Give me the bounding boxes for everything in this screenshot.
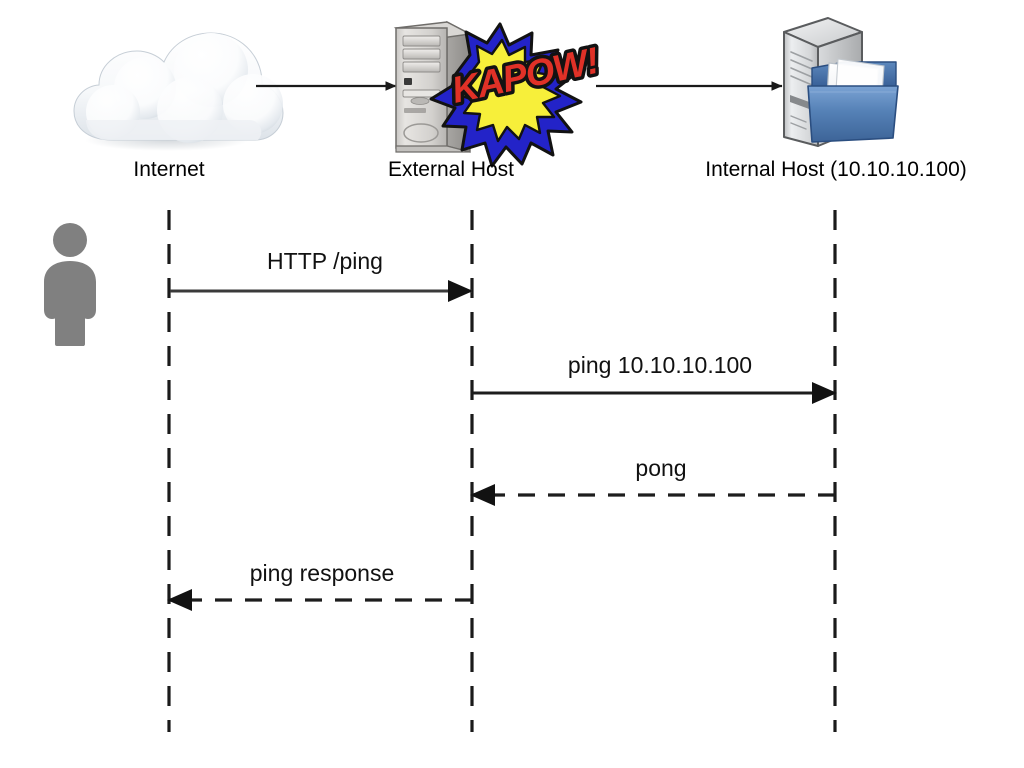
- lifelines: [169, 210, 835, 732]
- external-host-node[interactable]: [392, 18, 582, 156]
- node-label-internal-host: Internal Host (10.10.10.100): [705, 158, 967, 182]
- node-label-external-host: External Host: [388, 158, 514, 182]
- node-label-internet: Internet: [133, 158, 204, 182]
- message-label-http-ping: HTTP /ping: [267, 248, 383, 275]
- message-label-ping-ip: ping 10.10.10.100: [568, 352, 752, 379]
- diagram-canvas: KAPOW! KAPOW!: [0, 0, 1024, 768]
- internal-host-node[interactable]: [782, 16, 900, 148]
- cloud-node[interactable]: [74, 28, 286, 146]
- message-label-pong: pong: [635, 455, 686, 482]
- message-label-ping-response: ping response: [250, 560, 395, 587]
- user-actor[interactable]: [40, 222, 102, 350]
